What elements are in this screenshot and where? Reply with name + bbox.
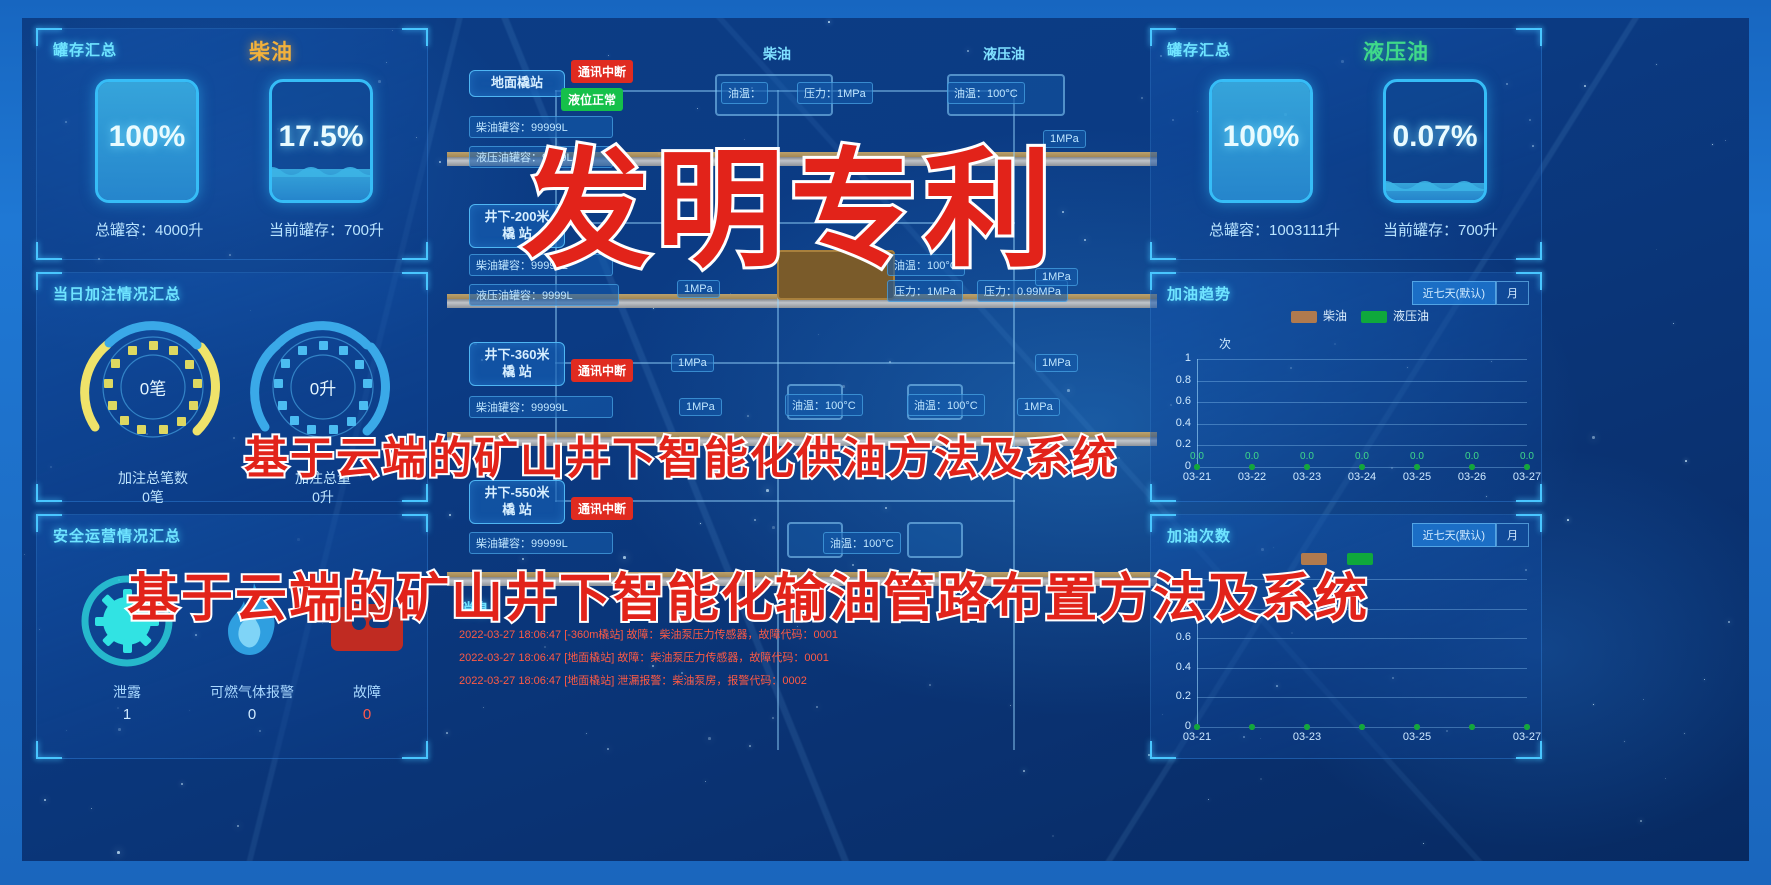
- x-tick-label: 03-21: [1175, 471, 1219, 483]
- right-tank-summary-panel: 罐存汇总 液压油 100% 总罐容：1003111升 0.07% 当前罐存：70…: [1150, 28, 1542, 260]
- tank-shape: 100%: [95, 79, 199, 203]
- station-name-line1: 井下-550米: [484, 485, 549, 500]
- data-point-label: 0.0: [1185, 451, 1209, 462]
- refuel-count-panel: 加油次数 近七天(默认) 月 00.20.40.60.81 03-2103-23…: [1150, 514, 1542, 759]
- panel-title: 加油次数: [1167, 525, 1231, 546]
- panel-title: 当日加注情况汇总: [53, 283, 181, 304]
- data-point: [1249, 464, 1255, 470]
- y-tick-label: 0.2: [1165, 438, 1191, 450]
- data-point: [1249, 724, 1255, 730]
- x-tick-label: 03-25: [1395, 471, 1439, 483]
- tag-diesel-capacity: 柴油罐容：99999L: [469, 532, 613, 554]
- current-tank-gauge: 17.5% 当前罐存：700升: [269, 79, 384, 240]
- range-week-button[interactable]: 近七天(默认): [1412, 281, 1496, 305]
- data-point: [1469, 724, 1475, 730]
- grid-line: [1197, 381, 1527, 382]
- message-log-line: 2022-03-27 18:06:47 [地面橇站] 故障：柴油泵压力传感器，故…: [459, 649, 1157, 665]
- diesel-branch-label: 柴油: [763, 44, 791, 64]
- hydraulic-subtitle: 液压油: [1363, 36, 1429, 66]
- y-axis-unit: 次: [1219, 335, 1231, 352]
- panel-corner: [36, 739, 62, 759]
- panel-title: 罐存汇总: [1167, 39, 1231, 60]
- oil-temp-tag: 油温：100°C: [785, 394, 863, 416]
- watermark-main: 发明专利: [522, 106, 1058, 291]
- legend-swatch-hydraulic: [1361, 311, 1387, 323]
- data-point-label: 0.0: [1515, 451, 1539, 462]
- tank-current-label: 当前罐存：700升: [1383, 219, 1498, 240]
- x-tick-label: 03-27: [1505, 731, 1549, 743]
- refuel-count-caption-line1: 加注总笔数: [73, 469, 233, 488]
- tank-fill: [1386, 183, 1484, 200]
- watermark-title-line1: 基于云端的矿山井下智能化供油方法及系统: [244, 422, 1118, 486]
- refuel-count-caption-line2: 0笔: [73, 488, 233, 507]
- equipment-pump-550m-b: [907, 522, 963, 558]
- grid-line: [1197, 668, 1527, 669]
- station-name-line2: 橇 站: [502, 364, 532, 379]
- range-week-button[interactable]: 近七天(默认): [1412, 523, 1496, 547]
- data-point: [1469, 464, 1475, 470]
- legend-entry-diesel: 柴油: [1291, 307, 1347, 324]
- x-tick-label: 03-24: [1340, 471, 1384, 483]
- refuel-trend-panel: 加油趋势 近七天(默认) 月 柴油 液压油 次 00.20.40.60.810.…: [1150, 272, 1542, 502]
- y-tick-label: 0.4: [1165, 417, 1191, 429]
- refuel-count-gauge: 0笔 加注总笔数 0笔: [73, 315, 233, 507]
- x-tick-label: 03-22: [1230, 471, 1274, 483]
- pressure-tag: 1MPa: [671, 354, 714, 372]
- legend-label-diesel: 柴油: [1323, 309, 1347, 323]
- panel-title: 罐存汇总: [53, 39, 117, 60]
- data-point-label: 0.0: [1295, 451, 1319, 462]
- grid-line: [1197, 697, 1527, 698]
- tank-shape: 100%: [1209, 79, 1313, 203]
- panel-corner: [1516, 28, 1542, 48]
- data-point: [1359, 724, 1365, 730]
- watermark-title-line2: 基于云端的矿山井下智能化输油管路布置方法及系统: [127, 556, 1369, 631]
- tank-capacity-label: 总罐容：4000升: [95, 219, 203, 240]
- diesel-subtitle: 柴油: [249, 36, 293, 66]
- range-month-button[interactable]: 月: [1496, 523, 1529, 547]
- y-tick-label: 0.8: [1165, 374, 1191, 386]
- tank-percent: 100%: [1212, 120, 1310, 154]
- trend-legend: 柴油 液压油: [1291, 307, 1429, 324]
- safety-item-value: 0: [317, 706, 417, 723]
- data-point-label: 0.0: [1350, 451, 1374, 462]
- data-point: [1359, 464, 1365, 470]
- oil-temp-tag: 油温：: [721, 82, 768, 104]
- data-point: [1194, 724, 1200, 730]
- safety-item-value: 1: [67, 706, 187, 723]
- outer-frame: 罐存汇总 柴油 100% 总罐容：4000升 17.5% 当前罐存：700升: [0, 0, 1771, 885]
- x-tick-label: 03-26: [1450, 471, 1494, 483]
- y-tick-label: 0.2: [1165, 690, 1191, 702]
- y-tick-label: 0.6: [1165, 395, 1191, 407]
- panel-title: 加油趋势: [1167, 283, 1231, 304]
- panel-corner: [402, 514, 428, 534]
- grid-line: [1197, 402, 1527, 403]
- grid-line: [1197, 445, 1527, 446]
- grid-line: [1197, 424, 1527, 425]
- station-name-line2: 橇 站: [502, 502, 532, 517]
- count-range-selector[interactable]: 近七天(默认) 月: [1412, 523, 1529, 547]
- refuel-count-caption: 加注总笔数 0笔: [73, 469, 233, 507]
- y-tick-label: 0.4: [1165, 661, 1191, 673]
- data-point: [1304, 464, 1310, 470]
- tank-shape: 17.5%: [269, 79, 373, 203]
- safety-panel: 安全运营情况汇总 泄露 1: [36, 514, 428, 759]
- safety-item-label: 故障: [317, 682, 417, 702]
- pressure-tag: 1MPa: [679, 398, 722, 416]
- grid-line: [1197, 638, 1527, 639]
- panel-corner: [1150, 240, 1176, 260]
- panel-corner: [36, 482, 62, 502]
- tank-current-label: 当前罐存：700升: [269, 219, 384, 240]
- current-tank-gauge: 0.07% 当前罐存：700升: [1383, 79, 1498, 240]
- tank-shape: 0.07%: [1383, 79, 1487, 203]
- pressure-tag: 1MPa: [1035, 354, 1078, 372]
- pressure-tag: 压力：1MPa: [797, 82, 873, 104]
- pressure-tag: 1MPa: [1017, 398, 1060, 416]
- x-tick-label: 03-25: [1395, 731, 1439, 743]
- trend-x-axis: 03-2103-2203-2303-2403-2503-2603-27: [1197, 471, 1527, 489]
- hydraulic-branch-label: 液压油: [983, 44, 1025, 64]
- x-tick-label: 03-21: [1175, 731, 1219, 743]
- panel-corner: [402, 28, 428, 48]
- data-point: [1414, 724, 1420, 730]
- wave-icon: [1383, 175, 1487, 191]
- trend-range-selector[interactable]: 近七天(默认) 月: [1412, 281, 1529, 305]
- panel-title: 安全运营情况汇总: [53, 525, 181, 546]
- tank-percent: 17.5%: [272, 120, 370, 154]
- data-point: [1414, 464, 1420, 470]
- panel-corner: [402, 240, 428, 260]
- grid-line: [1197, 359, 1527, 360]
- status-badge-comm: 通讯中断: [571, 60, 633, 83]
- panel-corner: [1150, 739, 1176, 759]
- data-point-label: 0.0: [1460, 451, 1484, 462]
- legend-entry-hydraulic: 液压油: [1361, 307, 1429, 324]
- y-tick-label: 1: [1165, 352, 1191, 364]
- oil-temp-tag: 油温：100°C: [907, 394, 985, 416]
- wave-icon: [269, 161, 373, 177]
- panel-corner: [1150, 482, 1176, 502]
- data-point-label: 0.0: [1405, 451, 1429, 462]
- station-node-ground[interactable]: 地面橇站: [469, 70, 565, 97]
- tag-diesel-capacity: 柴油罐容：99999L: [469, 396, 613, 418]
- station-name-line1: 井下-360米: [484, 347, 549, 362]
- data-point: [1524, 464, 1530, 470]
- tank-percent: 100%: [98, 120, 196, 154]
- status-badge-comm: 通讯中断: [571, 497, 633, 520]
- message-log-line: 2022-03-27 18:06:47 [地面橇站] 泄漏报警：柴油泵房，报警代…: [459, 672, 1157, 688]
- data-point: [1524, 724, 1530, 730]
- data-point: [1304, 724, 1310, 730]
- count-x-axis: 03-2103-2303-2503-27: [1197, 731, 1527, 749]
- oil-temp-tag: 油温：100°C: [823, 532, 901, 554]
- total-tank-gauge: 100% 总罐容：4000升: [95, 79, 203, 240]
- range-month-button[interactable]: 月: [1496, 281, 1529, 305]
- panel-corner: [402, 272, 428, 292]
- station-node-360m[interactable]: 井下-360米 橇 站: [469, 342, 565, 386]
- safety-item-label: 泄露: [67, 682, 187, 702]
- refuel-volume-value: 0升: [243, 375, 403, 400]
- status-badge-comm: 通讯中断: [571, 359, 633, 382]
- left-tank-summary-panel: 罐存汇总 柴油 100% 总罐容：4000升 17.5% 当前罐存：700升: [36, 28, 428, 260]
- legend-swatch-diesel: [1291, 311, 1317, 323]
- panel-corner: [36, 240, 62, 260]
- tank-capacity-label: 总罐容：1003111升: [1209, 219, 1340, 240]
- x-tick-label: 03-23: [1285, 731, 1329, 743]
- tank-percent: 0.07%: [1386, 120, 1484, 154]
- x-tick-label: 03-23: [1285, 471, 1329, 483]
- oil-temp-tag: 油温：100°C: [947, 82, 1025, 104]
- total-tank-gauge: 100% 总罐容：1003111升: [1209, 79, 1340, 240]
- station-node-550m[interactable]: 井下-550米 橇 站: [469, 480, 565, 524]
- data-point: [1194, 464, 1200, 470]
- refuel-count-value: 0笔: [73, 375, 233, 400]
- dashboard-screen: 罐存汇总 柴油 100% 总罐容：4000升 17.5% 当前罐存：700升: [22, 18, 1749, 861]
- panel-corner: [1516, 240, 1542, 260]
- trend-plot-area: 00.20.40.60.810.00.00.00.00.00.00.0: [1197, 359, 1527, 467]
- safety-item-label: 可燃气体报警: [187, 682, 317, 702]
- tank-fill: [272, 169, 370, 200]
- safety-item-value: 0: [187, 706, 317, 723]
- refuel-volume-caption-line2: 0升: [243, 488, 403, 507]
- x-tick-label: 03-27: [1505, 471, 1549, 483]
- data-point-label: 0.0: [1240, 451, 1264, 462]
- legend-label-hydraulic: 液压油: [1393, 309, 1429, 323]
- y-tick-label: 0.6: [1165, 631, 1191, 643]
- panel-corner: [402, 739, 428, 759]
